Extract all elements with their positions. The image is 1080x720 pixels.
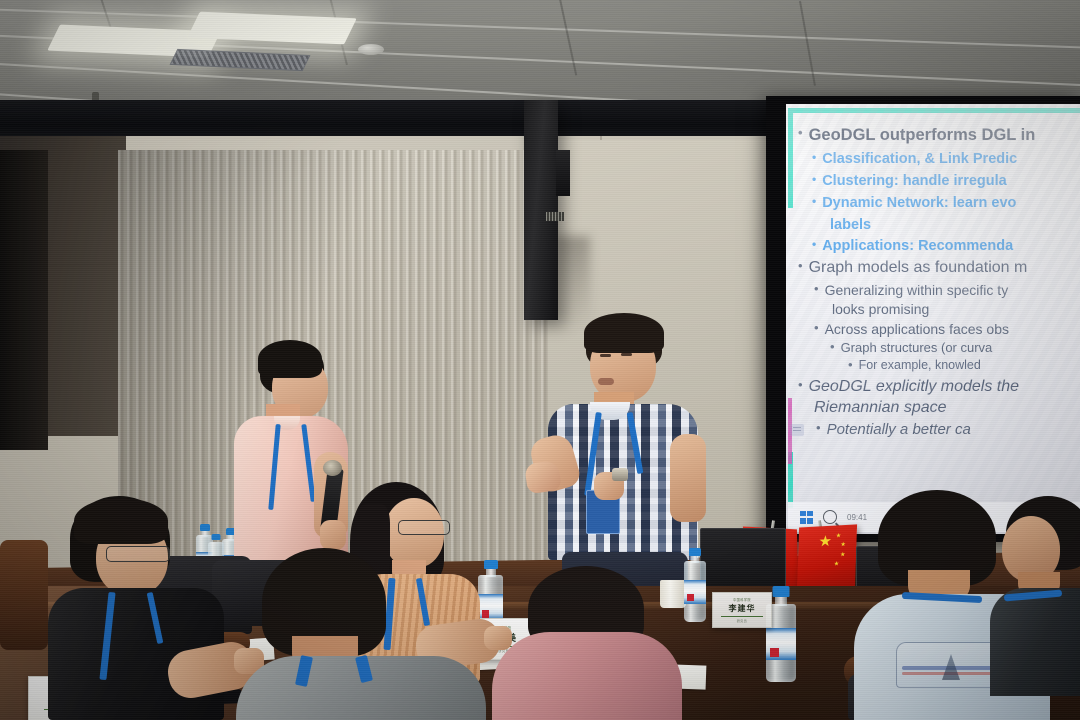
person-attendee-black-polo bbox=[48, 496, 258, 720]
hair-front bbox=[74, 498, 168, 544]
slide-bullet-5: • Applications: Recommenda bbox=[812, 238, 1080, 255]
wall-dark-edge bbox=[0, 150, 48, 450]
slide-bullet-9: • Across applications faces obs bbox=[814, 321, 1080, 337]
slide-accent-bar-left bbox=[788, 108, 793, 208]
bullet-dot-icon: • bbox=[798, 259, 803, 272]
wall-speaker-column bbox=[524, 100, 558, 320]
bullet-dot-icon: • bbox=[812, 195, 816, 207]
arm-right bbox=[670, 434, 706, 522]
slide-bullet-text: Graph models as foundation m bbox=[809, 259, 1028, 278]
slide-bullet-1: • Classification, & Link Predic bbox=[812, 151, 1080, 168]
placard-name: 李建华 bbox=[729, 603, 756, 614]
bullet-dot-icon: • bbox=[830, 340, 835, 353]
bullet-dot-icon: • bbox=[848, 358, 853, 371]
eye bbox=[621, 353, 632, 356]
slide-bullet-10: • Graph structures (or curva bbox=[830, 340, 1080, 355]
person-attendee-grey-back bbox=[236, 548, 486, 720]
slide-bullet-2: • Clustering: handle irregula bbox=[812, 173, 1080, 190]
microphone-head-icon bbox=[323, 460, 342, 476]
placard-rule bbox=[721, 616, 763, 617]
slide-bullet-8: looks promising bbox=[832, 301, 1080, 317]
slide-bullet-11: • For example, knowled bbox=[848, 358, 1080, 373]
mouth bbox=[598, 378, 614, 385]
star-icon-large: ★ bbox=[818, 534, 832, 550]
slide-bullet-text: Graph structures (or curva bbox=[841, 340, 993, 355]
slide-bullet-text: Clustering: handle irregula bbox=[822, 173, 1007, 190]
slide-bullet-13: Riemannian space bbox=[814, 399, 1080, 417]
slide-bullet-text: Potentially a better ca bbox=[827, 421, 971, 438]
chair-armrest bbox=[0, 540, 48, 650]
slide-bullet-text: Generalizing within specific ty bbox=[825, 282, 1009, 298]
flag-china-national: ★ ★ ★ ★ ★ bbox=[797, 524, 857, 591]
slide-bullet-text: Applications: Recommenda bbox=[822, 238, 1013, 255]
bullet-dot-icon: • bbox=[816, 421, 821, 434]
eye bbox=[600, 354, 611, 357]
search-icon[interactable] bbox=[823, 510, 837, 524]
bullet-dot-icon: • bbox=[798, 378, 803, 391]
bullet-dot-icon: • bbox=[814, 321, 819, 334]
star-icon-small: ★ bbox=[840, 552, 846, 558]
bullet-dot-icon: • bbox=[812, 238, 816, 250]
ceiling bbox=[0, 0, 1080, 108]
slide-bullet-text: Dynamic Network: learn evo bbox=[822, 195, 1016, 212]
torso-pink-top bbox=[492, 632, 682, 720]
name-placard-right: 中国科学院 李建华 研究员 bbox=[712, 592, 772, 628]
start-icon[interactable] bbox=[800, 511, 813, 524]
wristwatch bbox=[612, 468, 628, 481]
glasses bbox=[106, 546, 170, 562]
bullet-dot-icon: • bbox=[798, 126, 803, 139]
presentation-slide-content: • GeoDGL outperforms DGL in • Classifica… bbox=[798, 126, 1080, 441]
hand bbox=[320, 520, 346, 550]
slide-bullet-6: • Graph models as foundation m bbox=[798, 259, 1080, 278]
slide-bullet-4: labels bbox=[830, 217, 1080, 233]
slide-accent-bar-top bbox=[788, 108, 1080, 113]
person-attendee-pink-back bbox=[492, 566, 682, 720]
slide-bullet-0: • GeoDGL outperforms DGL in bbox=[798, 126, 1080, 145]
placard-org: 中国科学院 bbox=[733, 597, 751, 602]
slide-bullet-text: For example, knowled bbox=[859, 358, 981, 373]
bullet-dot-icon: • bbox=[812, 151, 816, 163]
speaker-mount-bracket bbox=[556, 150, 570, 196]
slide-bullet-14: • Potentially a better ca bbox=[816, 421, 1080, 438]
smoke-detector-icon bbox=[358, 44, 384, 55]
glasses bbox=[398, 520, 450, 535]
hair-top bbox=[584, 313, 664, 353]
slide-bullet-3: • Dynamic Network: learn evo bbox=[812, 195, 1080, 212]
star-icon-small: ★ bbox=[834, 561, 840, 567]
person-attendee-dark-right bbox=[1000, 496, 1080, 696]
slide-bullet-text: Across applications faces obs bbox=[825, 321, 1009, 337]
star-icon-small: ★ bbox=[840, 542, 846, 548]
bullet-dot-icon: • bbox=[812, 173, 816, 185]
laptop-screen bbox=[700, 528, 786, 594]
water-bottle bbox=[684, 548, 706, 622]
slide-bullet-7: • Generalizing within specific ty bbox=[814, 282, 1080, 298]
ceiling-vent bbox=[170, 49, 311, 71]
conference-room-photo: • GeoDGL outperforms DGL in • Classifica… bbox=[0, 0, 1080, 720]
slide-bullet-text: GeoDGL outperforms DGL in bbox=[809, 126, 1036, 145]
slide-bullet-text: Classification, & Link Predic bbox=[822, 151, 1017, 168]
slide-sidebar-icon bbox=[790, 424, 804, 436]
torso-dark-polo bbox=[990, 588, 1080, 696]
bullet-dot-icon: • bbox=[814, 282, 819, 295]
hair-top bbox=[258, 340, 322, 378]
speaker-grill-icon bbox=[546, 212, 564, 221]
star-icon-small: ★ bbox=[836, 533, 842, 539]
placard-subtitle: 研究员 bbox=[737, 619, 748, 623]
slide-bullet-12: • GeoDGL explicitly models the bbox=[798, 378, 1080, 397]
slide-bullet-text: GeoDGL explicitly models the bbox=[809, 378, 1019, 397]
